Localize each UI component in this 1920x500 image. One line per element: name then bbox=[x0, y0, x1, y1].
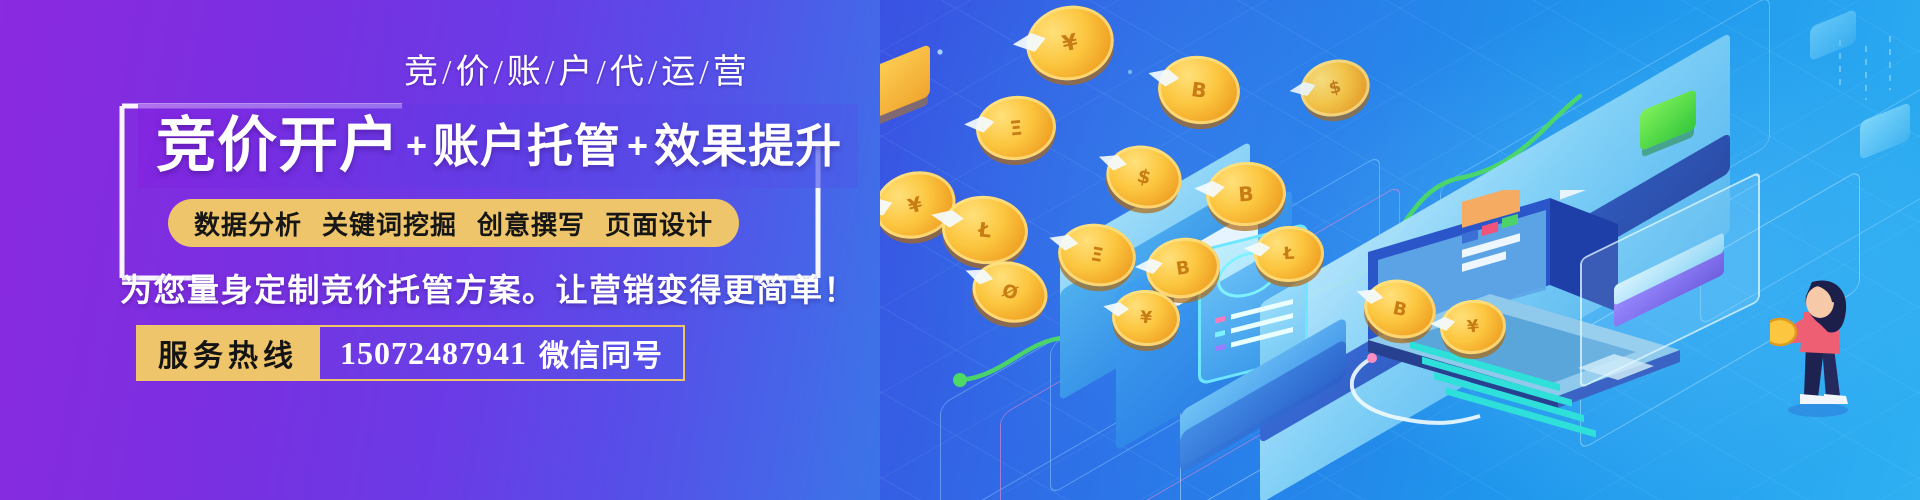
kicker-char: 营 bbox=[713, 54, 749, 91]
headline: 竞价开户 + 账户托管 + 效果提升 bbox=[138, 104, 858, 188]
headline-part2: 账户托管 bbox=[433, 123, 621, 169]
service-item-1: 关键词挖掘 bbox=[322, 205, 457, 242]
kicker-separator: / bbox=[545, 54, 556, 91]
kicker-char: 运 bbox=[661, 54, 697, 91]
headline-part3: 效果提升 bbox=[654, 123, 842, 169]
banner-root: ¥ B Ξ $ ¥ Ł B Ξ B Ø Ł ¥ $ B ¥ bbox=[0, 0, 1920, 500]
hotline-row[interactable]: 服务热线 15072487941 微信同号 bbox=[136, 325, 685, 381]
kicker-separator: / bbox=[596, 54, 607, 91]
glass-cube bbox=[1580, 215, 1760, 345]
kicker-separator: / bbox=[493, 54, 504, 91]
hotline-value[interactable]: 15072487941 微信同号 bbox=[320, 325, 685, 381]
kicker-char: 价 bbox=[455, 54, 491, 91]
person-holding-coin bbox=[1770, 268, 1860, 408]
service-item-3: 页面设计 bbox=[605, 205, 713, 242]
kicker-char: 竞 bbox=[404, 54, 440, 91]
banner-description: 为您量身定制竞价托管方案。让营销变得更简单！ bbox=[120, 265, 857, 311]
kicker-char: 代 bbox=[610, 54, 646, 91]
growth-curve-start-dot bbox=[953, 373, 967, 387]
headline-main: 竞价开户 bbox=[156, 116, 400, 176]
services-pill[interactable]: 数据分析 关键词挖掘 创意撰写 页面设计 bbox=[168, 199, 739, 247]
hotline-number: 15072487941 bbox=[340, 335, 527, 372]
banner-kicker: 竞/价/账/户/代/运/营 bbox=[404, 44, 749, 93]
illustration: ¥ B Ξ $ ¥ Ł B Ξ B Ø Ł ¥ $ B ¥ bbox=[880, 0, 1920, 500]
kicker-separator: / bbox=[699, 54, 710, 91]
left-content: 竞/价/账/户/代/运/营 竞价开户 + 账户托管 + 效果提升 数据分析 关键… bbox=[0, 0, 920, 500]
service-item-2: 创意撰写 bbox=[477, 205, 585, 242]
wechat-note: 微信同号 bbox=[539, 331, 663, 375]
hotline-label: 服务热线 bbox=[136, 325, 320, 381]
kicker-separator: / bbox=[442, 54, 453, 91]
kicker-char: 户 bbox=[558, 54, 594, 91]
kicker-char: 账 bbox=[507, 54, 543, 91]
headline-plus: + bbox=[406, 128, 427, 164]
service-item-0: 数据分析 bbox=[194, 205, 302, 242]
kicker-separator: / bbox=[648, 54, 659, 91]
headline-plus: + bbox=[627, 128, 648, 164]
